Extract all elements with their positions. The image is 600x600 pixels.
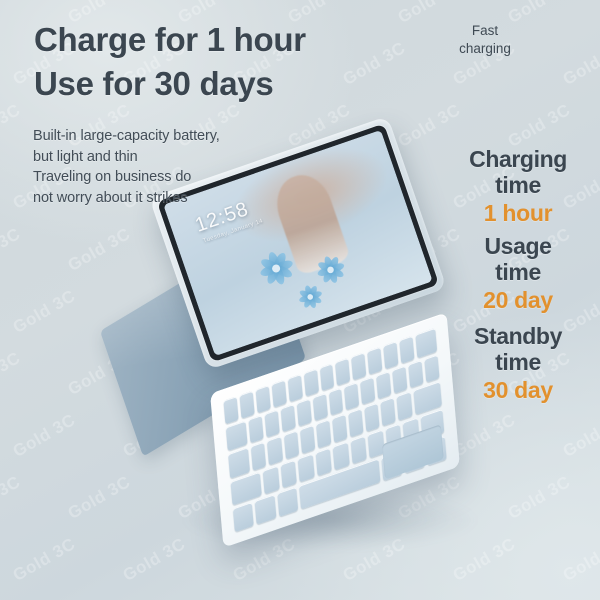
keyboard-key [264, 410, 279, 438]
keyboard-key [351, 352, 366, 380]
watermark-text: Gold 3C [395, 596, 464, 600]
watermark-text: Gold 3C [560, 410, 600, 462]
watermark-text: Gold 3C [175, 596, 244, 600]
watermark-text: Gold 3C [560, 534, 600, 586]
keyboard-key [383, 341, 398, 369]
spec-value: 1 hour [438, 200, 598, 226]
keyboard-key [267, 436, 282, 464]
subcopy-line-4: not worry about it strikes [33, 188, 220, 209]
keyboard-key [392, 366, 407, 394]
keyboard-key [263, 465, 280, 494]
keyboard-key [415, 328, 437, 359]
watermark-text: Gold 3C [340, 38, 409, 90]
watermark-text: Gold 3C [0, 224, 24, 276]
watermark-text: Gold 3C [0, 348, 24, 400]
keyboard-key [335, 358, 350, 386]
keyboard-key [376, 371, 391, 399]
keyboard-key [397, 392, 412, 420]
spec-standby-time: Standby time 30 day [438, 323, 598, 403]
keyboard-key [312, 393, 327, 421]
keyboard-key [296, 399, 311, 427]
spec-label: time [438, 172, 598, 198]
spec-label: time [438, 349, 598, 375]
subcopy-line-3: Traveling on business do [33, 167, 220, 188]
keyboard-key [251, 442, 266, 470]
keyboard-key [381, 397, 396, 425]
keyboard-key [399, 336, 414, 364]
fast-charging-line-1: Fast [430, 22, 540, 40]
keyboard-key [280, 404, 295, 432]
keyboard-key [223, 396, 238, 424]
fast-charging-line-2: charging [430, 40, 540, 58]
spec-label: Charging [438, 146, 598, 172]
keyboard-key [315, 447, 332, 476]
keyboard-key [319, 363, 334, 391]
keyboard-key [298, 453, 315, 482]
keyboard-key [239, 391, 254, 419]
keyboard-key [303, 369, 318, 397]
watermark-text: Gold 3C [0, 0, 24, 28]
spec-label: Usage [438, 233, 598, 259]
keyboard-key [226, 421, 248, 452]
product-poster: Gold 3CGold 3CGold 3CGold 3CGold 3CGold … [0, 0, 600, 600]
headline-line-1: Charge for 1 hour [34, 18, 306, 62]
keyboard-key [283, 431, 298, 459]
headline-line-2: Use for 30 days [34, 62, 306, 106]
keyboard-key [255, 494, 276, 524]
spec-value: 20 day [438, 287, 598, 313]
spec-label: Standby [438, 323, 598, 349]
keyboard-key [408, 360, 423, 388]
keyboard-key [228, 448, 250, 479]
keyboard-key [332, 414, 347, 442]
watermark-text: Gold 3C [505, 596, 574, 600]
keyboard-key [233, 502, 254, 532]
keyboard-key [364, 403, 379, 431]
watermark-text: Gold 3C [65, 596, 134, 600]
watermark-text: Gold 3C [0, 596, 24, 600]
subcopy: Built-in large-capacity battery, but lig… [33, 126, 220, 208]
keyboard-key [300, 425, 315, 453]
watermark-text: Gold 3C [560, 38, 600, 90]
watermark-text: Gold 3C [0, 100, 24, 152]
spec-usage-time: Usage time 20 day [438, 233, 598, 313]
keyboard-key [280, 459, 297, 488]
keyboard-key [344, 382, 359, 410]
keyboard-key [348, 409, 363, 437]
keyboard-key [350, 435, 367, 464]
spec-label: time [438, 259, 598, 285]
keyboard-key [255, 385, 270, 413]
keyboard-key [328, 388, 343, 416]
watermark-text: Gold 3C [0, 472, 24, 524]
fast-charging-badge: Fast charging [430, 22, 540, 58]
keyboard-key [333, 441, 350, 470]
keyboard-key [248, 415, 263, 443]
keyboard-key [367, 347, 382, 375]
keyboard-key [316, 420, 331, 448]
keyboard-key [360, 377, 375, 405]
subcopy-line-1: Built-in large-capacity battery, [33, 126, 220, 147]
keyboard-key [271, 380, 286, 408]
subcopy-line-2: but light and thin [33, 147, 220, 168]
spec-list: Charging time 1 hour Usage time 20 day S… [438, 146, 598, 408]
watermark-text: Gold 3C [285, 596, 354, 600]
headline: Charge for 1 hour Use for 30 days [34, 18, 306, 106]
keyboard-key [277, 487, 298, 517]
spec-charging-time: Charging time 1 hour [438, 146, 598, 226]
keyboard-key [287, 374, 302, 402]
spec-value: 30 day [438, 377, 598, 403]
